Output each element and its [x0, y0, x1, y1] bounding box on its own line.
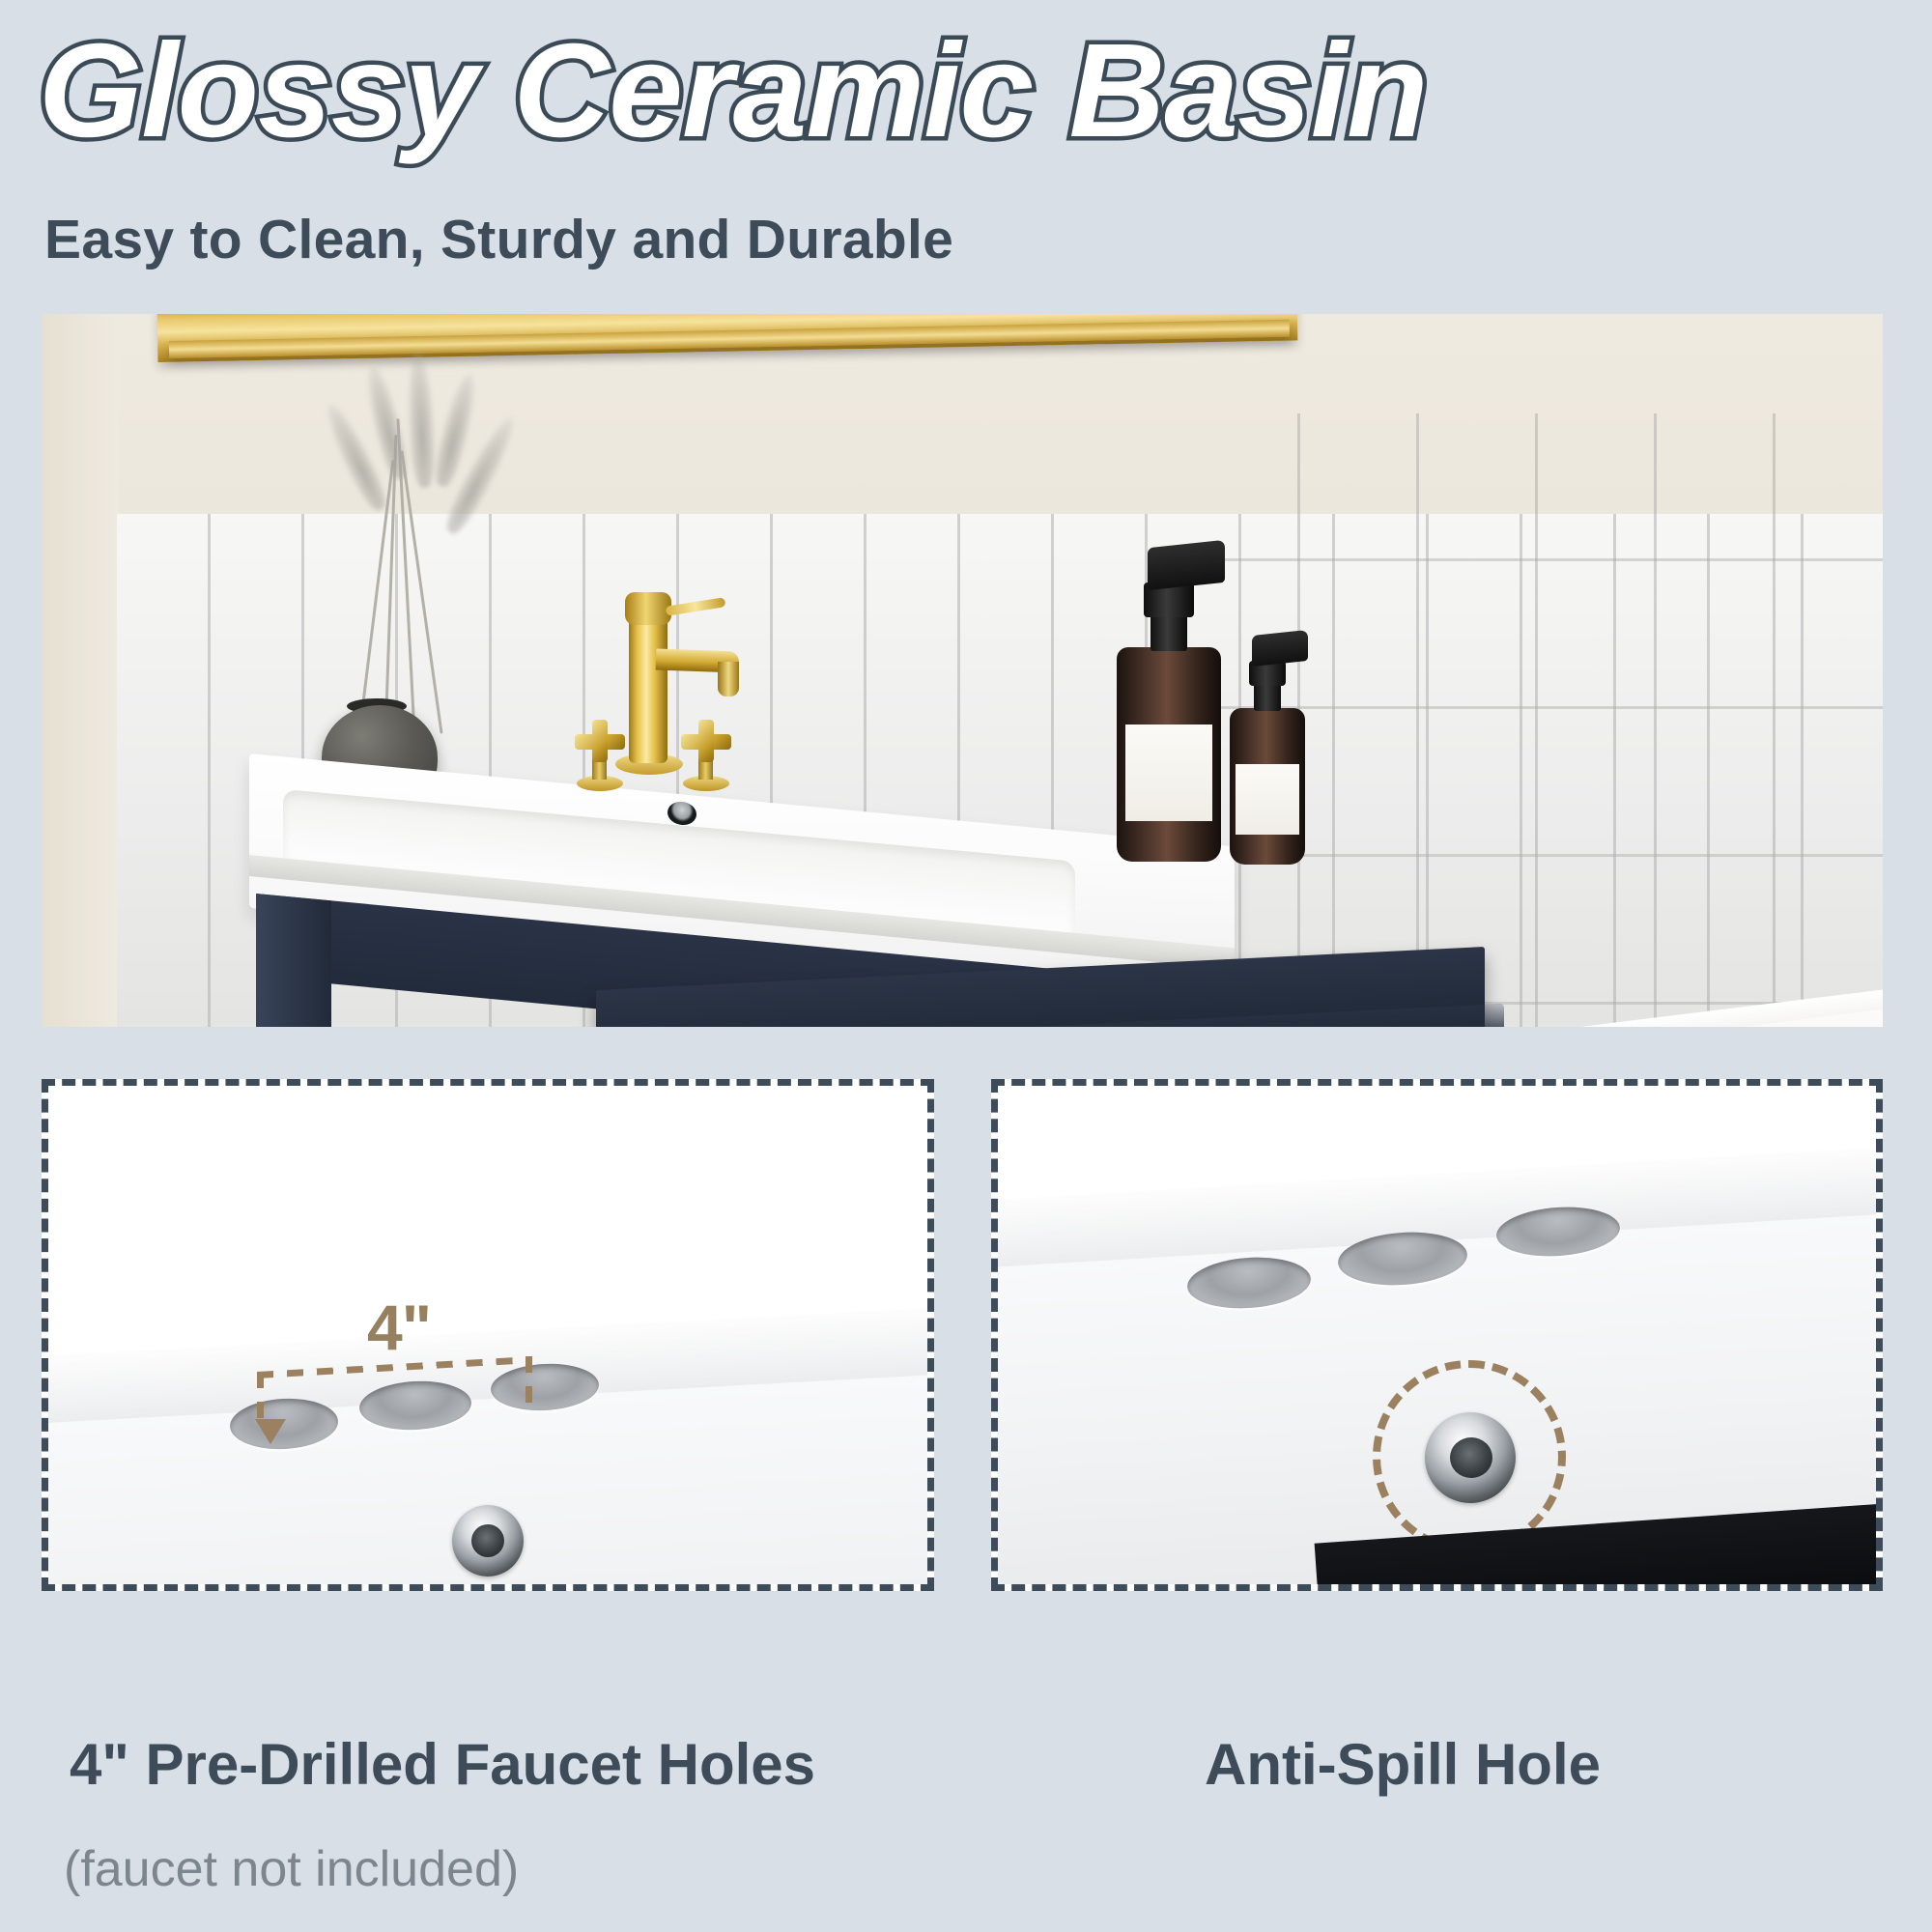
anti-spill-drain-core-right	[1450, 1437, 1492, 1478]
faucet-body	[629, 604, 668, 763]
header: Glossy Ceramic Basin Easy to Clean, Stur…	[0, 0, 1932, 314]
measure-label: 4"	[367, 1291, 431, 1364]
wall-left-strip	[42, 314, 119, 1027]
faucet-spout-tip	[718, 662, 739, 696]
page-subtitle: Easy to Clean, Sturdy and Durable	[44, 208, 953, 271]
anti-spill-detail-panel	[991, 1079, 1883, 1591]
measure-arrow-icon	[255, 1419, 286, 1444]
page-title: Glossy Ceramic Basin	[39, 8, 1427, 175]
measure-line-left	[257, 1372, 264, 1426]
soap-dispenser-large	[1117, 647, 1221, 862]
caption-faucet-holes: 4" Pre-Drilled Faucet Holes	[70, 1731, 815, 1798]
faucet-holes-detail-panel: 4"	[42, 1079, 934, 1591]
faucet-cap	[625, 592, 671, 625]
note-faucet-not-included: (faucet not included)	[64, 1840, 519, 1898]
faucet-handle-left	[575, 720, 625, 762]
soap-dispenser-small	[1230, 708, 1305, 865]
faucet-handle-right	[681, 720, 731, 762]
pampas-grass	[331, 343, 505, 729]
hero-product-photo: SEBASTIAN SHAPER PLUS +	[42, 314, 1883, 1027]
caption-anti-spill: Anti-Spill Hole	[1205, 1731, 1601, 1798]
measure-annotation: 4"	[48, 1086, 927, 1584]
cabinet-left-post	[256, 894, 331, 1027]
measure-line-right	[526, 1356, 532, 1414]
